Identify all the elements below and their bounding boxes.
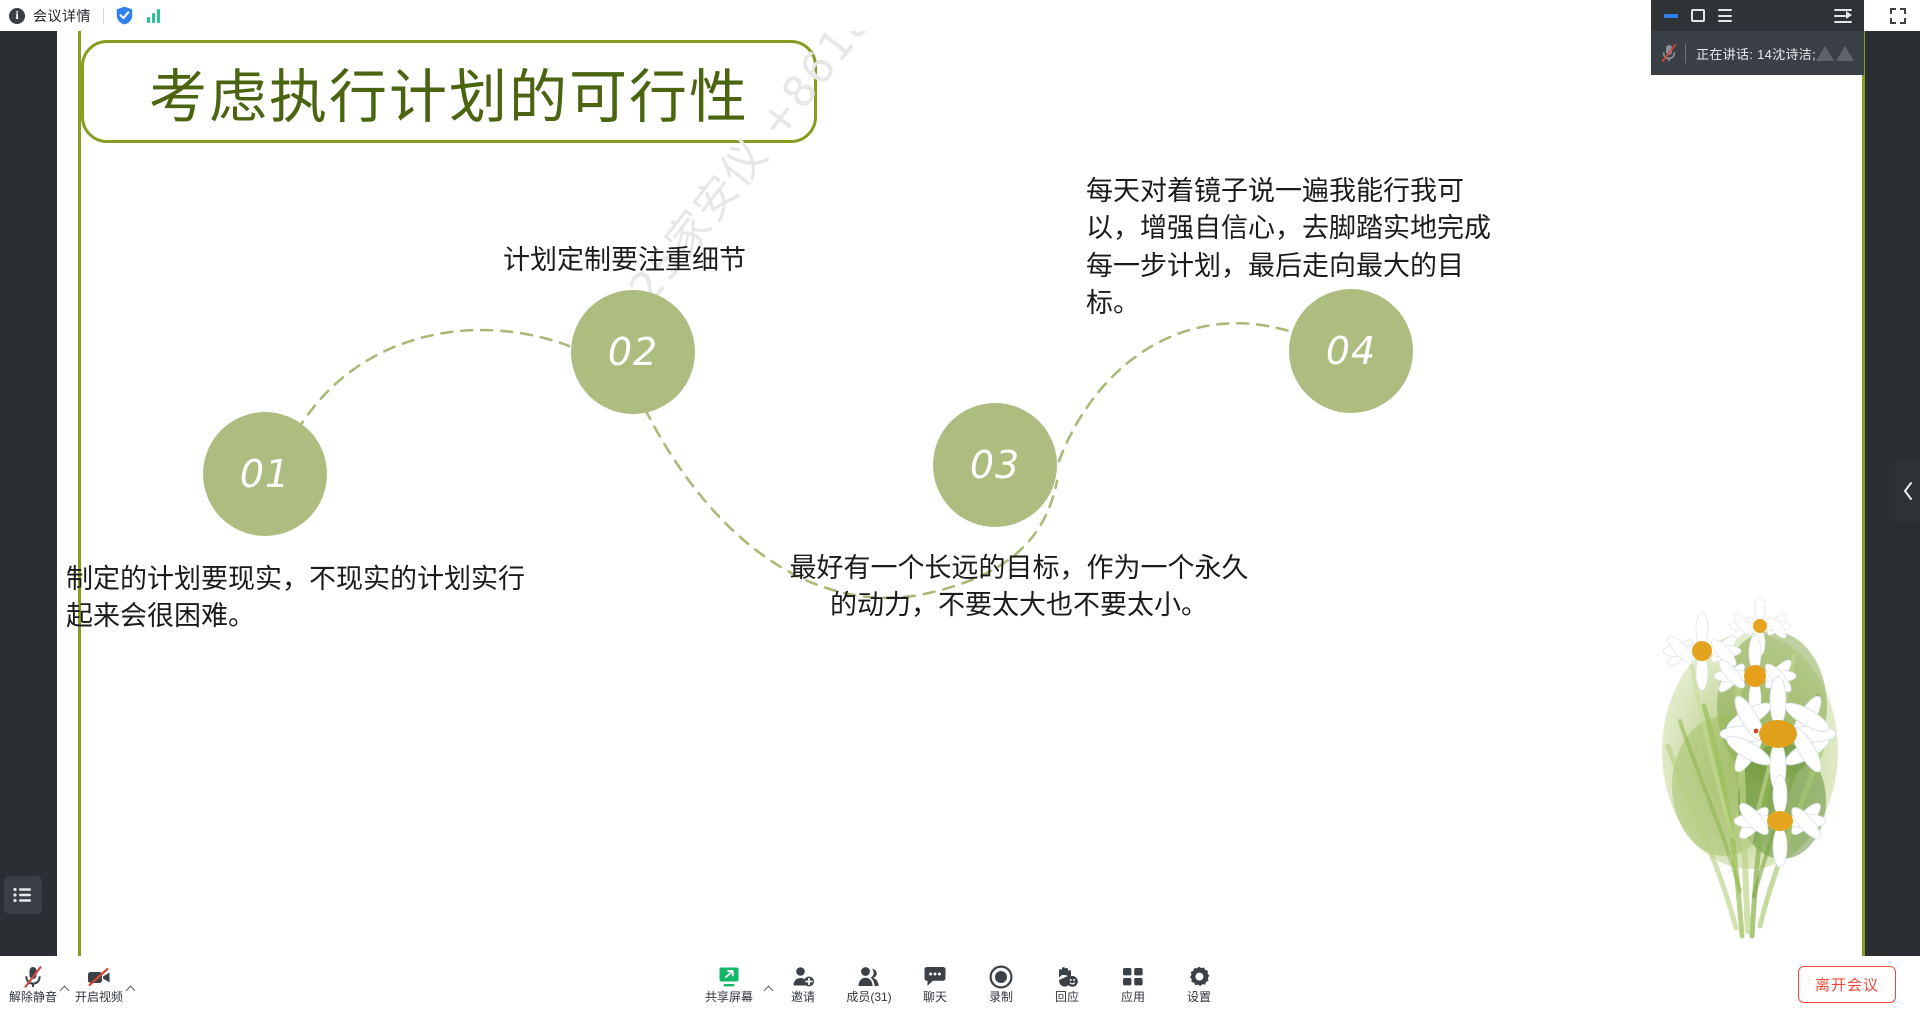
chat-bubble-icon xyxy=(922,965,948,989)
gear-icon xyxy=(1187,965,1211,989)
chat-label: 聊天 xyxy=(923,991,947,1003)
unmute-label: 解除静音 xyxy=(9,991,57,1003)
invite-person-icon xyxy=(791,965,815,989)
maximize-icon[interactable] xyxy=(1691,9,1705,22)
hamburger-menu-icon[interactable] xyxy=(1718,9,1732,22)
slide-left-rule xyxy=(78,31,81,956)
minimize-icon[interactable] xyxy=(1664,14,1678,18)
reaction-label: 回应 xyxy=(1055,991,1079,1003)
participants-button[interactable]: 成员(31) xyxy=(836,956,902,1012)
divider xyxy=(103,8,104,24)
meeting-app-window: i 会议详情 xyxy=(0,0,1920,1012)
shield-check-icon[interactable] xyxy=(116,6,133,25)
chat-button[interactable]: 聊天 xyxy=(902,956,968,1012)
settings-button[interactable]: 设置 xyxy=(1166,956,1232,1012)
bottom-toolbar: 解除静音 开启视频 xyxy=(0,956,1920,1012)
participants-label: 成员(31) xyxy=(846,991,891,1003)
step-body-01: 制定的计划要现实，不现实的计划实行起来会很困难。 xyxy=(66,561,536,636)
bottom-toolbar-left: 解除静音 开启视频 xyxy=(0,956,132,1012)
active-speaker-panel: 正在讲话: 14沈诗洁; xyxy=(1651,31,1864,75)
fullscreen-icon xyxy=(1890,8,1906,24)
leave-meeting-button[interactable]: 离开会议 xyxy=(1798,966,1896,1003)
share-screen-button[interactable]: 共享屏幕 xyxy=(688,956,770,1012)
start-video-button[interactable]: 开启视频 xyxy=(66,956,132,1012)
panel-expand-tab[interactable] xyxy=(1895,460,1920,522)
bottom-toolbar-right: 离开会议 xyxy=(1798,956,1896,1012)
window-controls-bar xyxy=(1651,0,1864,31)
info-icon[interactable]: i xyxy=(9,8,25,24)
apps-button[interactable]: 应用 xyxy=(1100,956,1166,1012)
invite-button[interactable]: 邀请 xyxy=(770,956,836,1012)
signal-strength-icon[interactable] xyxy=(147,9,160,23)
reaction-hand-icon xyxy=(1055,965,1079,989)
step-circle-01: 01 xyxy=(203,412,327,536)
list-menu-button[interactable] xyxy=(4,876,42,914)
list-menu-icon xyxy=(13,887,33,903)
chevron-up-icon[interactable] xyxy=(126,986,136,996)
mic-muted-icon xyxy=(1657,43,1681,63)
step-body-03: 最好有一个长远的目标，作为一个永久的动力，不要太大也不要太小。 xyxy=(784,550,1254,625)
step-body-04: 每天对着镜子说一遍我能行我可以，增强自信心，去脚踏实地完成每一步计划，最后走向最… xyxy=(1086,173,1516,322)
chevron-left-icon xyxy=(1902,481,1914,501)
fullscreen-button[interactable] xyxy=(1876,0,1920,31)
share-screen-label: 共享屏幕 xyxy=(705,991,753,1003)
active-speaker-label: 正在讲话: 14沈诗洁; xyxy=(1696,44,1816,63)
divider xyxy=(1685,43,1686,63)
step-circle-02: 02 xyxy=(571,290,695,414)
slide-title: 考虑执行计划的可行性 xyxy=(149,50,749,134)
step-circle-03: 03 xyxy=(933,403,1057,527)
meeting-detail-label[interactable]: 会议详情 xyxy=(33,6,91,26)
participants-icon xyxy=(857,965,881,989)
panel-collapse-icon[interactable] xyxy=(1834,8,1852,24)
apps-label: 应用 xyxy=(1121,991,1145,1003)
reaction-button[interactable]: 回应 xyxy=(1034,956,1100,1012)
mic-muted-icon xyxy=(22,965,44,989)
settings-label: 设置 xyxy=(1187,991,1211,1003)
record-circle-icon xyxy=(989,965,1013,989)
audio-wave-icon xyxy=(1816,46,1854,61)
top-bar: i 会议详情 xyxy=(0,0,1920,31)
slide-title-box: 考虑执行计划的可行性 xyxy=(81,40,817,143)
unmute-button[interactable]: 解除静音 xyxy=(0,956,66,1012)
record-label: 录制 xyxy=(989,991,1013,1003)
window-controls-group xyxy=(1651,9,1732,22)
slide-right-rule xyxy=(1862,31,1865,956)
shared-screen-stage: 考虑执行计划的可行性 25家安仪 +8618017892352 01 02 03… xyxy=(0,31,1920,956)
share-screen-icon xyxy=(716,965,742,989)
apps-grid-icon xyxy=(1121,965,1145,989)
presentation-slide: 考虑执行计划的可行性 25家安仪 +8618017892352 01 02 03… xyxy=(57,31,1865,956)
record-button[interactable]: 录制 xyxy=(968,956,1034,1012)
daisy-bouquet-illustration xyxy=(1632,536,1862,956)
start-video-label: 开启视频 xyxy=(75,991,123,1003)
invite-label: 邀请 xyxy=(791,991,815,1003)
top-bar-left-group: i 会议详情 xyxy=(0,6,160,26)
step-heading-02: 计划定制要注重细节 xyxy=(503,242,746,279)
bottom-toolbar-center: 共享屏幕 邀请 xyxy=(688,956,1232,1012)
camera-off-icon xyxy=(86,965,112,989)
